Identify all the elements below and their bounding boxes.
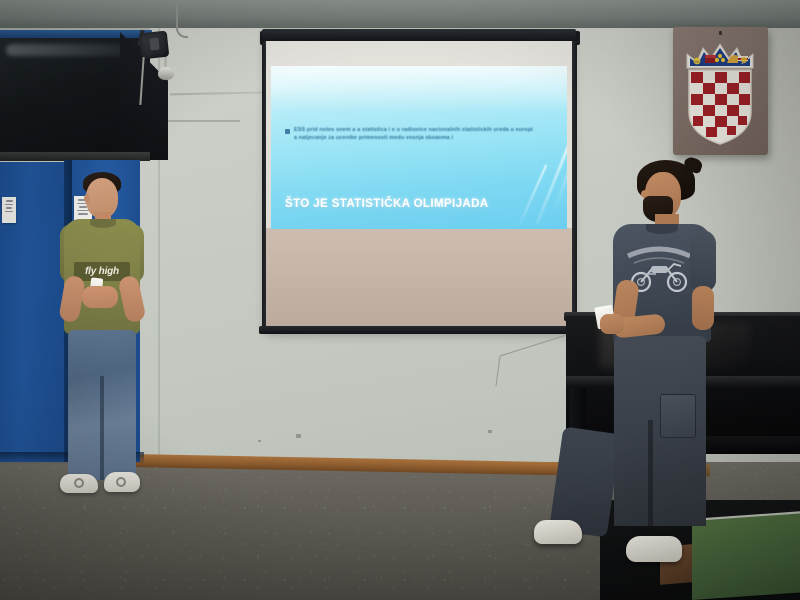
shoe-logo-icon xyxy=(116,477,126,487)
slide-bullet: ESS prid notes snem a a statistica i e u… xyxy=(285,126,535,143)
wall-mark xyxy=(258,440,261,442)
slide-glow xyxy=(271,66,567,112)
projected-slide: ESS prid notes snem a a statistica i e u… xyxy=(271,66,567,229)
slide-title: ŠTO JE STATISTIČKA OLIMPIJADA xyxy=(285,198,489,210)
presenter-right-hand xyxy=(600,314,624,334)
speaker-grille xyxy=(149,38,159,51)
presenter-right-cargo-pocket xyxy=(660,394,696,438)
presenter-right-arm xyxy=(692,286,714,330)
slide-light-streak xyxy=(536,112,567,224)
window-glare xyxy=(6,44,136,56)
hanging-cord xyxy=(400,330,580,390)
wire-hook xyxy=(176,4,188,38)
presenter-right-shoe xyxy=(626,536,682,562)
wall-mark xyxy=(296,434,301,438)
slide-bullet-text: ESS prid notes snem a a statistica i e u… xyxy=(294,126,535,143)
door-notice-left xyxy=(2,197,16,223)
sensor-dome-icon xyxy=(158,67,174,80)
presenter-left-collar xyxy=(90,219,116,228)
presenter-right-sleeve xyxy=(690,230,716,292)
slide-light-streak xyxy=(517,165,547,229)
classroom-scene: ESS prid notes snem a a statistica i e u… xyxy=(0,0,800,600)
presenter-left-hands xyxy=(82,286,118,308)
plaque-nail xyxy=(719,31,722,35)
bullet-marker-icon xyxy=(285,129,290,134)
presenter-left-shoe xyxy=(104,472,140,492)
screen-roller-bar xyxy=(262,29,576,41)
shirt-logo-text: fly high xyxy=(85,266,119,277)
presenter-right-leg-seam xyxy=(648,420,653,526)
presenter-left-leg-seam xyxy=(100,376,104,480)
presenter-right-collar xyxy=(646,224,678,234)
wall-mark xyxy=(488,430,492,433)
croatian-coat-of-arms-icon xyxy=(681,38,759,146)
window-frame xyxy=(0,30,152,38)
shoe-logo-icon xyxy=(74,478,84,488)
screen-lower-panel xyxy=(266,228,572,328)
presenter-left-shoe xyxy=(60,474,98,493)
presenter-right-shoe xyxy=(534,520,582,544)
green-table xyxy=(692,513,800,600)
presenter-left-ear xyxy=(84,194,90,203)
